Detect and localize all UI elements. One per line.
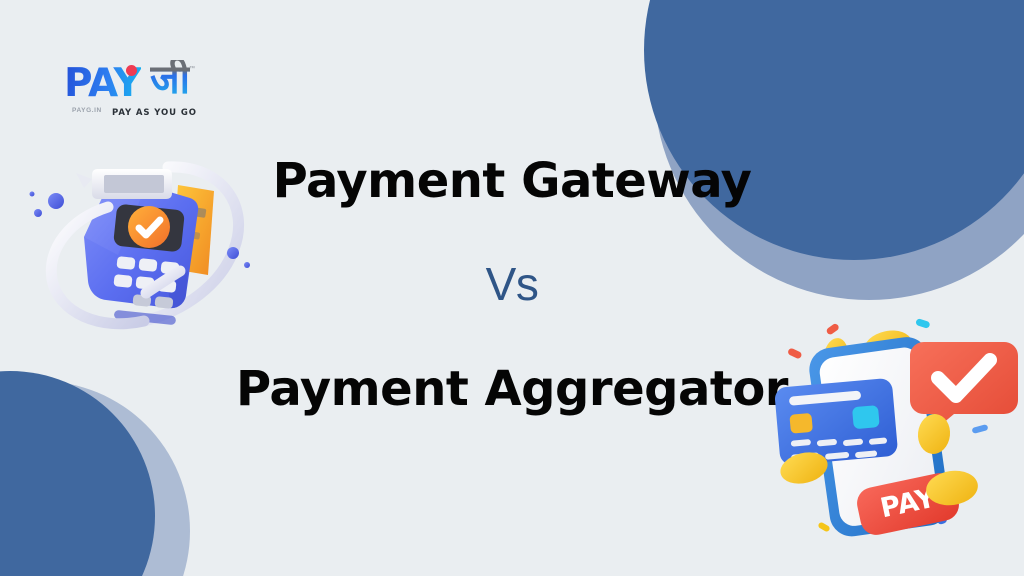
card-contactless-square (852, 405, 880, 429)
headline-line-secondary: Payment Aggregator (236, 365, 788, 413)
headline-versus-label: Vs (486, 261, 539, 307)
logo-tagline: PAY AS YOU GO (112, 108, 197, 118)
pos-terminal-illustration (18, 145, 268, 350)
decor-dot (30, 192, 35, 197)
decorative-circle-bottom-left-dark (0, 371, 155, 576)
decor-dot (48, 193, 64, 209)
logo-devanagari-ji: जी (150, 60, 190, 100)
logo-dot-icon (126, 65, 137, 76)
decorative-circle-top-right-dark (644, 0, 1024, 260)
mobile-payment-illustration: PAY (758, 318, 1024, 556)
brand-logo[interactable]: PAY जी ™ PAYG.IN PAY AS YOU GO (64, 64, 214, 124)
decor-dot (34, 209, 42, 217)
approved-badge-icon (128, 206, 170, 248)
poster-canvas: PAY जी ™ PAYG.IN PAY AS YOU GO Payment G… (0, 0, 1024, 576)
decor-dot (244, 262, 250, 268)
pos-receipt-paper (76, 169, 172, 199)
logo-trademark-symbol: ™ (189, 66, 195, 72)
credit-card (774, 378, 898, 466)
card-chip-icon (789, 413, 813, 434)
logo-domain-text: PAYG.IN (72, 107, 102, 114)
decor-dot (227, 247, 239, 259)
